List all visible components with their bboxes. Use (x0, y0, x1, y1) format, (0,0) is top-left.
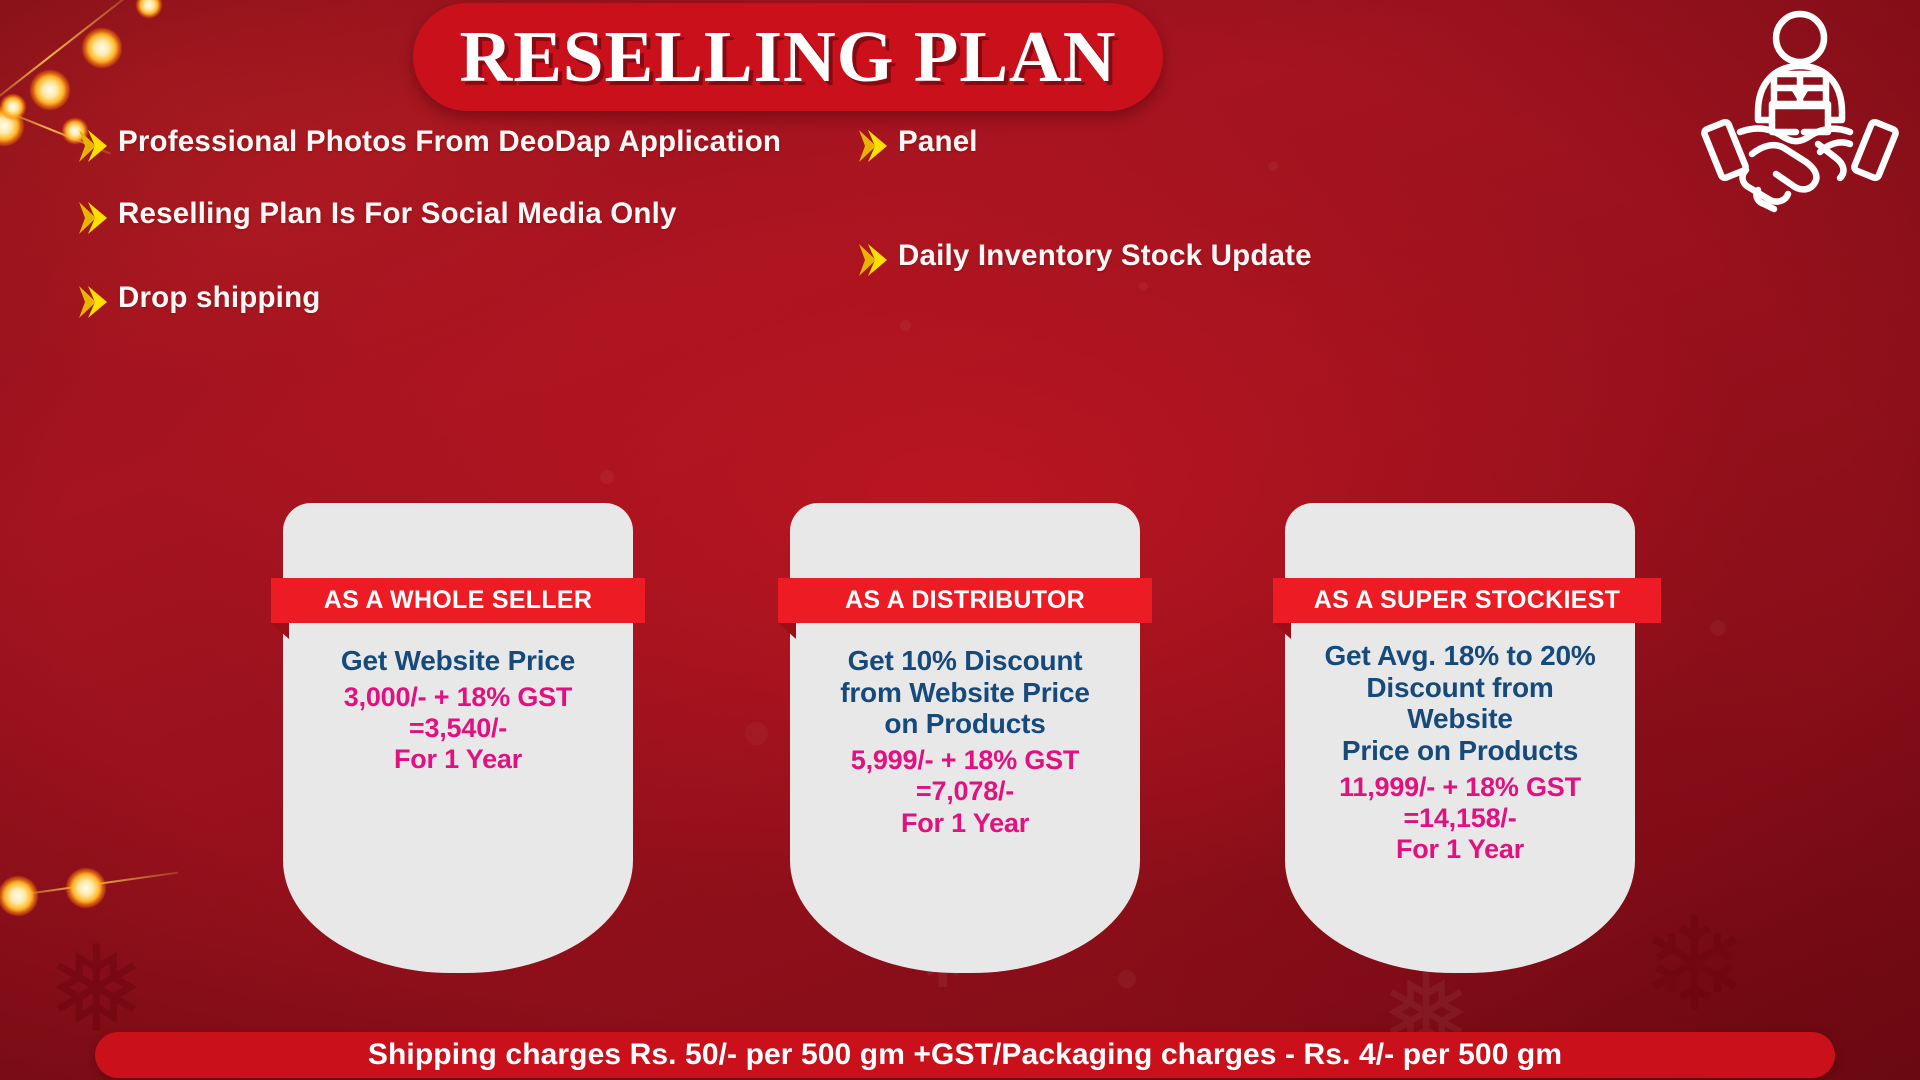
plan-heading-line: Discount from (1293, 672, 1627, 704)
plan-heading-line: Get Avg. 18% to 20% (1293, 640, 1627, 672)
plan-heading-line: Get Website Price (291, 645, 625, 677)
footer-note: Shipping charges Rs. 50/- per 500 gm +GS… (368, 1038, 1562, 1072)
plan-price-line: 3,000/- + 18% GST (291, 682, 625, 713)
plan-card-content: Get 10% Discount from Website Price on P… (790, 645, 1140, 839)
plan-ribbon: AS A WHOLE SELLER (271, 578, 645, 623)
plan-price-line: =3,540/- (291, 713, 625, 744)
plan-price-line: For 1 Year (1293, 834, 1627, 865)
footer-note-bar: Shipping charges Rs. 50/- per 500 gm +GS… (95, 1032, 1835, 1078)
plan-price-line: For 1 Year (798, 808, 1132, 839)
plan-ribbon-label: AS A DISTRIBUTOR (845, 586, 1085, 615)
plan-card-content: Get Website Price 3,000/- + 18% GST =3,5… (283, 645, 633, 776)
plan-card-content: Get Avg. 18% to 20% Discount from Websit… (1285, 640, 1635, 865)
plan-card-distributor[interactable]: AS A DISTRIBUTOR Get 10% Discount from W… (790, 503, 1140, 973)
plan-ribbon: AS A DISTRIBUTOR (778, 578, 1152, 623)
plan-heading-line: on Products (798, 708, 1132, 740)
plan-price-line: 11,999/- + 18% GST (1293, 772, 1627, 803)
ribbon-fold (1273, 623, 1291, 639)
plan-heading-line: Get 10% Discount (798, 645, 1132, 677)
plan-heading-line: from Website Price (798, 677, 1132, 709)
ribbon-fold (271, 623, 289, 639)
plan-ribbon-label: AS A WHOLE SELLER (324, 586, 593, 615)
ribbon-fold (778, 623, 796, 639)
plan-card-whole-seller[interactable]: AS A WHOLE SELLER Get Website Price 3,00… (283, 503, 633, 973)
plan-card-super-stockiest[interactable]: AS A SUPER STOCKIEST Get Avg. 18% to 20%… (1285, 503, 1635, 973)
plan-price-line: For 1 Year (291, 744, 625, 775)
plan-price-line: =14,158/- (1293, 803, 1627, 834)
plan-heading-line: Price on Products (1293, 735, 1627, 767)
plan-card-list: AS A WHOLE SELLER Get Website Price 3,00… (0, 0, 1920, 1080)
plan-ribbon-label: AS A SUPER STOCKIEST (1314, 586, 1621, 615)
plan-heading-line: Website (1293, 703, 1627, 735)
plan-price-line: =7,078/- (798, 776, 1132, 807)
plan-price-line: 5,999/- + 18% GST (798, 745, 1132, 776)
plan-ribbon: AS A SUPER STOCKIEST (1273, 578, 1661, 623)
